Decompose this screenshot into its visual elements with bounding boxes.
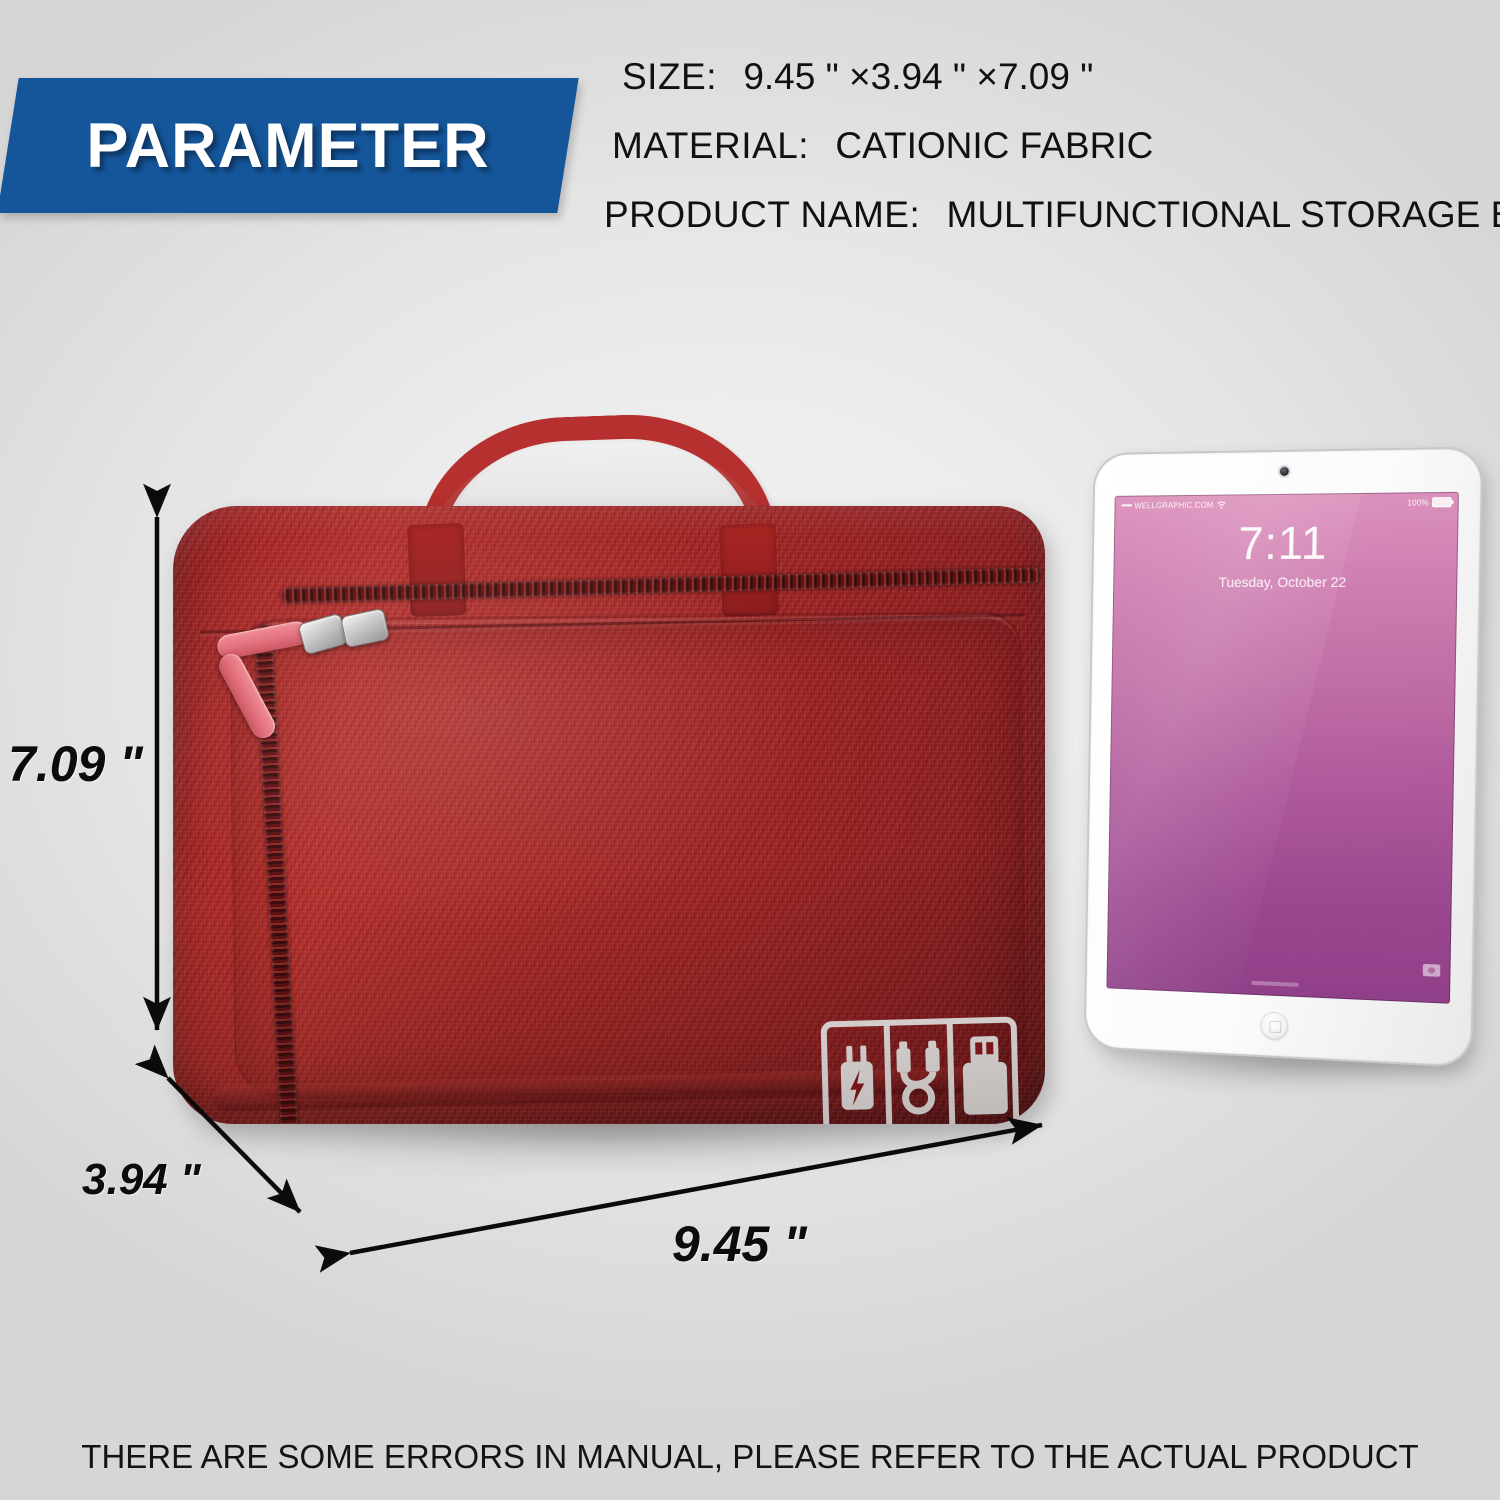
front-camera-icon <box>1280 467 1289 476</box>
zipper-track-top <box>281 567 1041 603</box>
spec-key-material: MATERIAL: <box>612 125 809 166</box>
zipper-slider-2 <box>340 608 390 648</box>
tablet-photo: ••••• WELLGRAPHIC.COM 100% 7:11 Tu <box>1078 452 1488 1112</box>
lock-screen-date: Tuesday, October 22 <box>1113 573 1457 590</box>
spec-list: SIZE: 9.45 " ×3.94 " ×7.09 " MATERIAL: C… <box>604 42 1494 249</box>
carrier-label: WELLGRAPHIC.COM <box>1134 500 1213 510</box>
handle-strap-left <box>407 523 466 617</box>
wifi-icon <box>1216 500 1226 509</box>
slide-to-unlock-handle[interactable] <box>1251 981 1298 987</box>
spec-row-size: SIZE: 9.45 " ×3.94 " ×7.09 " <box>604 42 1494 111</box>
signal-dots-icon: ••••• <box>1121 501 1131 511</box>
status-bar-left: ••••• WELLGRAPHIC.COM <box>1121 500 1226 511</box>
manual-disclaimer-note: THERE ARE SOME ERRORS IN MANUAL, PLEASE … <box>0 1438 1500 1476</box>
battery-icon <box>1432 497 1452 507</box>
camera-shortcut-icon[interactable] <box>1423 964 1441 977</box>
lock-screen-time: 7:11 <box>1114 518 1459 566</box>
tablet-screen: ••••• WELLGRAPHIC.COM 100% 7:11 Tu <box>1106 492 1458 1004</box>
status-bar-right: 100% <box>1407 497 1451 508</box>
parameter-banner-title: PARAMETER <box>8 78 568 213</box>
spec-row-product-name: PRODUCT NAME: MULTIFUNCTIONAL STORAGE BA… <box>604 180 1494 249</box>
storage-bag-photo <box>165 410 1055 1200</box>
tablet-body: ••••• WELLGRAPHIC.COM 100% 7:11 Tu <box>1086 449 1482 1066</box>
usb-cable-icon <box>896 1040 941 1111</box>
depth-dimension-label: 3.94 " <box>82 1155 201 1205</box>
spec-value-product-name: MULTIFUNCTIONAL STORAGE BAG <box>947 194 1500 235</box>
spec-key-size: SIZE: <box>622 56 717 97</box>
usb-flash-drive-icon <box>962 1036 1008 1115</box>
accessory-badge <box>820 1015 1021 1124</box>
status-bar: ••••• WELLGRAPHIC.COM 100% <box>1114 494 1458 514</box>
height-dimension-label: 7.09 " <box>8 735 143 793</box>
bag-body <box>173 506 1045 1124</box>
spec-value-size: 9.45 " ×3.94 " ×7.09 " <box>743 56 1093 97</box>
spec-key-product-name: PRODUCT NAME: <box>604 194 920 235</box>
spec-row-material: MATERIAL: CATIONIC FABRIC <box>604 111 1494 180</box>
infographic-canvas: PARAMETER SIZE: 9.45 " ×3.94 " ×7.09 " M… <box>0 0 1500 1500</box>
spec-value-material: CATIONIC FABRIC <box>835 125 1153 166</box>
charger-icon <box>840 1045 874 1110</box>
battery-percent-label: 100% <box>1407 498 1429 507</box>
home-button[interactable] <box>1260 1011 1288 1040</box>
width-dimension-label: 9.45 " <box>672 1215 807 1273</box>
handle-strap-right <box>719 523 778 617</box>
